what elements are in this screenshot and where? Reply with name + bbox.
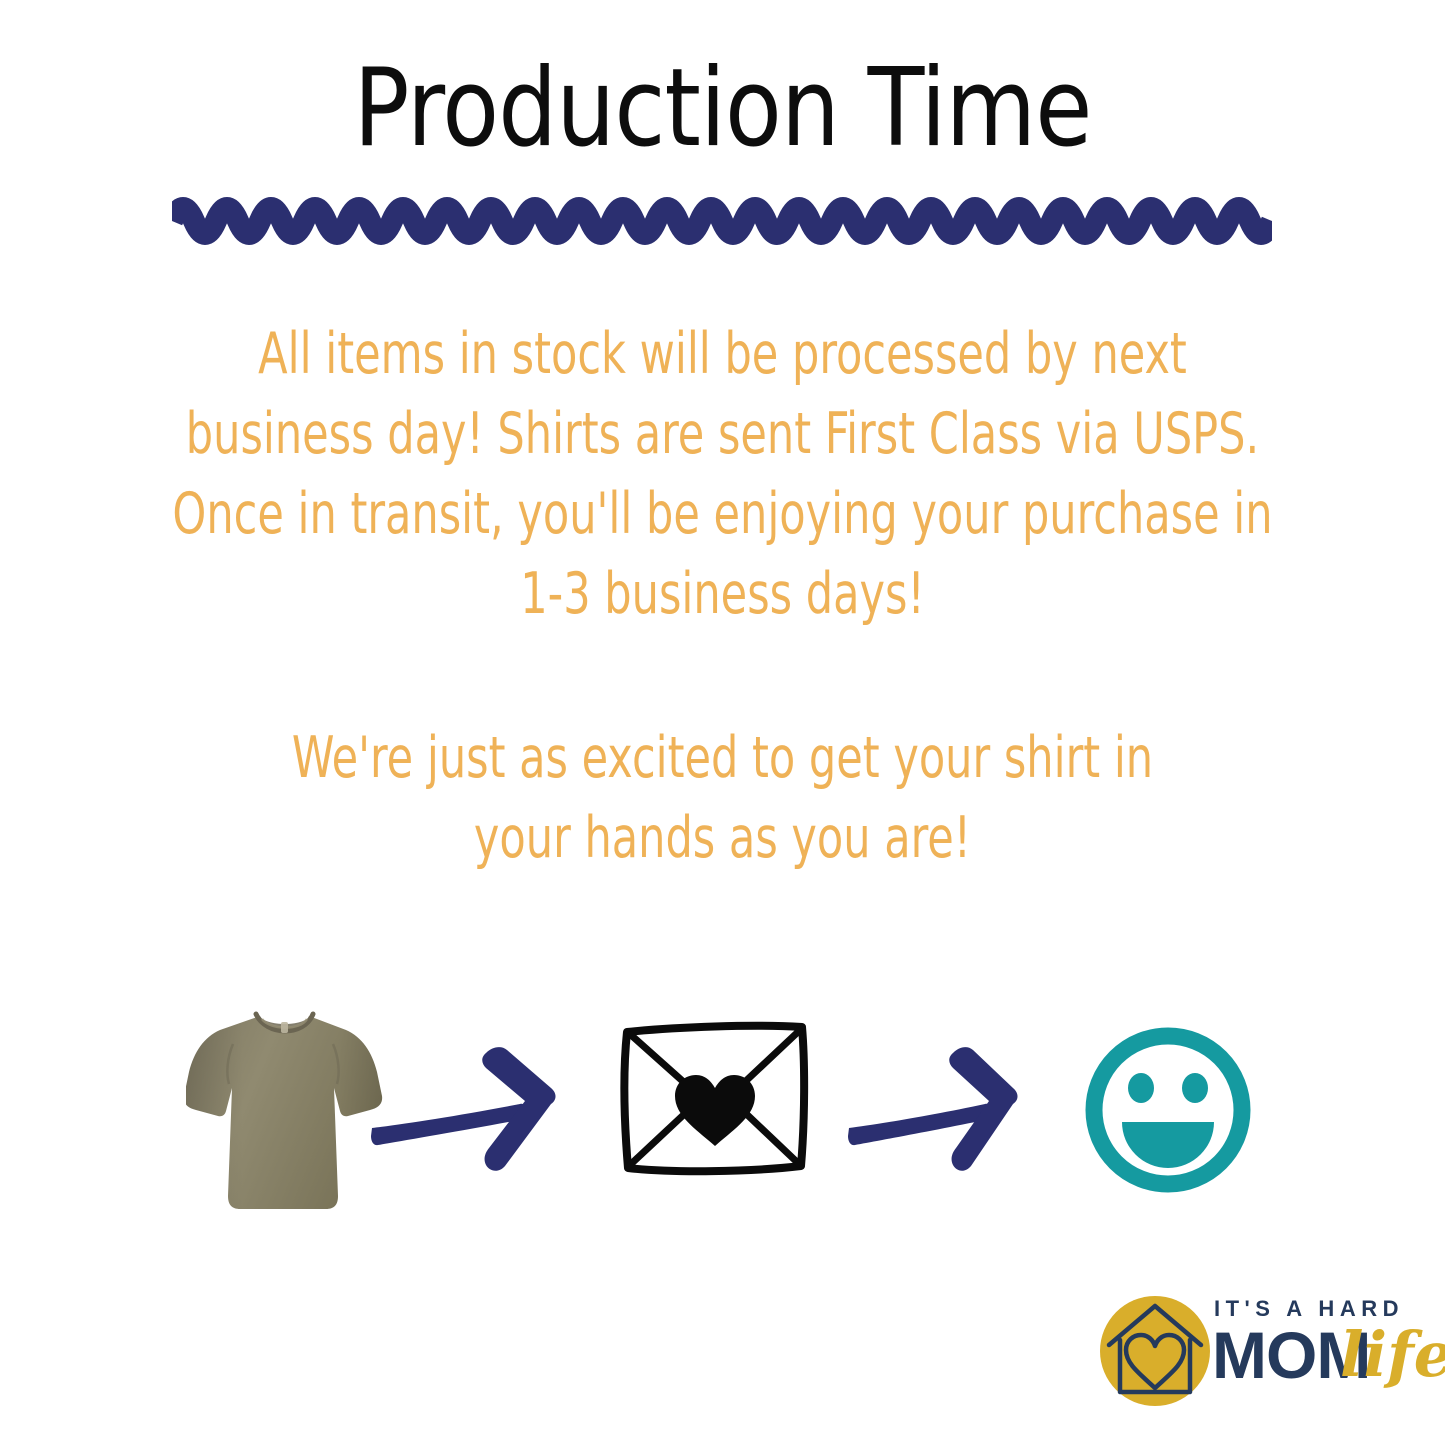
body-paragraph-1: All items in stock will be processed by … <box>116 314 1330 634</box>
page-title: Production Time <box>101 52 1344 165</box>
body-line: Once in transit, you'll be enjoying your… <box>116 474 1330 554</box>
brand-logo-text: IT'S A HARD MOM life <box>1212 1282 1428 1424</box>
arrow-right-icon-2 <box>845 1000 1035 1220</box>
envelope-heart-icon <box>605 1000 825 1220</box>
wavy-divider <box>172 183 1272 245</box>
brand-logo: IT'S A HARD MOM life <box>1096 1282 1428 1424</box>
body-paragraph-2: We're just as excited to get your shirt … <box>116 718 1330 878</box>
arrow-right-icon-1 <box>368 1000 578 1220</box>
body-line: All items in stock will be processed by … <box>116 314 1330 394</box>
house-heart-badge-icon <box>1096 1292 1214 1410</box>
body-line: business day! Shirts are sent First Clas… <box>116 394 1330 474</box>
tshirt-icon <box>186 1000 386 1220</box>
body-line: We're just as excited to get your shirt … <box>116 718 1330 798</box>
process-icon-row <box>0 1000 1445 1220</box>
poster-canvas: Production Time All items in stock will … <box>0 0 1445 1445</box>
brand-word-life: life <box>1340 1324 1445 1386</box>
body-line: 1-3 business days! <box>116 554 1330 634</box>
smiley-face-icon <box>1078 1000 1268 1220</box>
body-line: your hands as you are! <box>116 798 1330 878</box>
